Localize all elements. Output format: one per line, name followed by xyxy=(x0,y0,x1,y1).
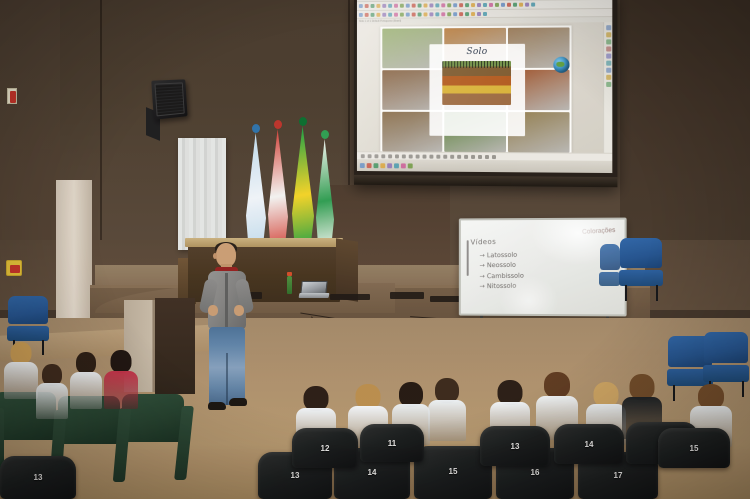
audience-head xyxy=(11,342,32,364)
chair-back xyxy=(8,296,48,324)
toolbar-icon[interactable] xyxy=(388,4,392,8)
toolbar-icon[interactable] xyxy=(401,163,406,168)
toolbar-icon[interactable] xyxy=(409,154,413,158)
toolbar-icon[interactable] xyxy=(416,154,420,158)
toolbar-icon[interactable] xyxy=(359,4,363,8)
soil-horizon-profile-icon xyxy=(443,61,512,105)
white-curtain xyxy=(178,138,226,250)
slide-canvas[interactable]: Solo xyxy=(380,25,571,154)
toolbar-icon[interactable] xyxy=(388,154,392,158)
back-wall-right xyxy=(620,0,750,260)
toolbar-icon[interactable] xyxy=(477,12,481,16)
toolbar-icon[interactable] xyxy=(435,3,439,7)
municipal-flag xyxy=(246,133,266,251)
presenter-ear xyxy=(213,253,217,259)
toolbar-icon[interactable] xyxy=(360,163,365,168)
brazil-flag xyxy=(292,126,314,251)
left-door-dark[interactable] xyxy=(155,298,195,394)
whiteboard-notes: Vídeos →Latossolo →Neossolo →Cambissolo … xyxy=(471,229,524,290)
whiteboard-item: →Latossolo xyxy=(479,250,523,259)
toolbar-icon[interactable] xyxy=(492,155,496,159)
audience-torso xyxy=(104,371,138,409)
table-row[interactable]: 15 xyxy=(658,428,730,468)
toolbar-icon[interactable] xyxy=(429,12,433,16)
toolbar-icon[interactable] xyxy=(394,4,398,8)
toolbar-icon[interactable] xyxy=(485,155,489,159)
student-left-4 xyxy=(104,350,138,408)
toolbar-icon[interactable] xyxy=(365,4,369,8)
toolbar-icon[interactable] xyxy=(471,3,475,7)
toolbar-icon[interactable] xyxy=(402,154,406,158)
toolbar-icon[interactable] xyxy=(374,154,378,158)
toolbar-icon[interactable] xyxy=(606,82,611,87)
seat-number: 13 xyxy=(511,442,520,451)
laptop-icon[interactable] xyxy=(299,281,329,299)
flag-finial-icon xyxy=(299,117,307,126)
arrow-icon: → xyxy=(479,282,485,290)
toolbar-icon[interactable] xyxy=(418,4,422,8)
toolbar-icon[interactable] xyxy=(388,12,392,16)
flag-cloth xyxy=(246,133,266,251)
presenter-hand-right xyxy=(234,305,244,316)
audience-torso xyxy=(428,400,466,441)
seat-number: 13 xyxy=(34,473,43,482)
toolbar-icon[interactable] xyxy=(423,154,427,158)
arrow-icon: → xyxy=(479,261,485,269)
toolbar-icon[interactable] xyxy=(359,12,363,16)
table-row[interactable]: 11 xyxy=(360,424,424,462)
presenter-hand-left xyxy=(208,305,218,316)
toolbar-icon[interactable] xyxy=(606,68,611,73)
toolbar-icon[interactable] xyxy=(382,4,386,8)
presenter-shirt-placket xyxy=(225,273,228,327)
toolbar-icon[interactable] xyxy=(424,12,428,16)
student-left-3 xyxy=(70,352,102,408)
toolbar-icon[interactable] xyxy=(371,4,375,8)
state-flag xyxy=(268,129,288,251)
toolbar-icon[interactable] xyxy=(606,61,611,66)
whiteboard-item-label: Cambissolo xyxy=(487,271,524,280)
toolbar-icon[interactable] xyxy=(459,12,463,16)
chair-back xyxy=(704,332,748,363)
globe-icon xyxy=(553,56,569,72)
toolbar-icon[interactable] xyxy=(453,12,457,16)
whiteboard-heading: Vídeos xyxy=(471,238,497,247)
seat-number: 15 xyxy=(449,467,458,476)
toolbar-icon[interactable] xyxy=(441,12,445,16)
presenter-shoe-right xyxy=(229,398,247,406)
toolbar-icon[interactable] xyxy=(412,12,416,16)
chair-seat xyxy=(7,326,49,341)
os-taskbar[interactable] xyxy=(357,159,612,173)
toolbar-icon[interactable] xyxy=(519,3,523,7)
toolbar-icon[interactable] xyxy=(477,3,481,7)
toolbar-icon[interactable] xyxy=(368,154,372,158)
whiteboard-item: →Cambissolo xyxy=(479,271,523,280)
toolbar-icon[interactable] xyxy=(435,12,439,16)
seat-number: 15 xyxy=(690,444,699,453)
arrow-icon: → xyxy=(479,251,485,259)
flag-cloth xyxy=(292,126,314,251)
chair-back xyxy=(600,244,620,270)
whiteboard-item-label: Nitossolo xyxy=(487,282,517,290)
seat-number: 13 xyxy=(291,471,300,480)
toolbar-icon[interactable] xyxy=(374,163,379,168)
audience-head xyxy=(111,350,132,373)
fire-extinguisher-sign-icon xyxy=(7,88,17,104)
toolbar-icon[interactable] xyxy=(606,46,611,51)
slide-center-card: Solo xyxy=(429,44,525,137)
projected-desktop: Slide 1 of 1 Default Portuguese (Brazil)… xyxy=(357,0,612,173)
toolbar-icon[interactable] xyxy=(418,12,422,16)
toolbar-icon[interactable] xyxy=(387,163,392,168)
toolbar-icon[interactable] xyxy=(471,12,475,16)
presenter-leg-seam xyxy=(226,353,228,405)
emergency-sign-icon xyxy=(6,260,22,276)
audience-torso xyxy=(4,362,38,399)
toolbar-icon[interactable] xyxy=(400,12,404,16)
slide-title: Solo xyxy=(466,47,487,57)
toolbar-icon[interactable] xyxy=(465,3,469,7)
audience-head xyxy=(544,372,570,398)
toolbar-icon[interactable] xyxy=(501,3,505,7)
flag-finial-icon xyxy=(321,130,329,139)
arrow-icon: → xyxy=(479,272,485,280)
table-row[interactable]: 13 xyxy=(0,456,76,499)
toolbar-icon[interactable] xyxy=(394,163,399,168)
toolbar-icon[interactable] xyxy=(483,3,487,7)
toolbar-icon[interactable] xyxy=(376,12,380,16)
wall-seam xyxy=(100,0,102,250)
presenter xyxy=(196,243,256,423)
toolbar-icon[interactable] xyxy=(495,3,499,7)
table-row[interactable]: 14 xyxy=(554,424,624,464)
toolbar-icon[interactable] xyxy=(489,3,493,7)
toolbar-icon[interactable] xyxy=(424,3,428,7)
toolbar-icon[interactable] xyxy=(507,3,511,7)
toolbar-icon[interactable] xyxy=(361,154,365,158)
app-statusline: Slide 1 of 1 Default Portuguese (Brazil) xyxy=(357,17,612,24)
auditorium-scene: Slide 1 of 1 Default Portuguese (Brazil)… xyxy=(0,0,750,499)
toolbar-icon[interactable] xyxy=(412,4,416,8)
toolbar-icon[interactable] xyxy=(400,4,404,8)
toolbar-icon[interactable] xyxy=(371,12,375,16)
toolbar-icon[interactable] xyxy=(395,154,399,158)
toolbar-icon[interactable] xyxy=(443,154,447,158)
toolbar-icon[interactable] xyxy=(459,3,463,7)
toolbar-icon[interactable] xyxy=(376,4,380,8)
seat-number: 17 xyxy=(614,471,623,480)
flag-cloth xyxy=(316,139,334,251)
toolbar-icon[interactable] xyxy=(471,154,475,158)
toolbar-icon[interactable] xyxy=(606,32,611,37)
pa-speaker-icon xyxy=(151,79,187,119)
seat-number: 11 xyxy=(388,439,396,448)
toolbar-icon[interactable] xyxy=(367,163,372,168)
flag-group xyxy=(246,126,332,251)
toolbar-icon[interactable] xyxy=(450,154,454,158)
toolbar-icon[interactable] xyxy=(408,163,413,168)
seat-number: 14 xyxy=(368,468,377,477)
toolbar-icon[interactable] xyxy=(606,75,611,80)
student-mid-4 xyxy=(428,378,466,440)
seat-number: 12 xyxy=(321,444,330,453)
audience-torso xyxy=(70,372,102,409)
app-sidebar[interactable] xyxy=(603,22,612,164)
toolbar-icon[interactable] xyxy=(429,3,433,7)
toolbar-icon[interactable] xyxy=(406,12,410,16)
toolbar-icon[interactable] xyxy=(606,25,611,30)
toolbar-icon[interactable] xyxy=(382,12,386,16)
toolbar-icon[interactable] xyxy=(441,3,445,7)
toolbar-icon[interactable] xyxy=(464,154,468,158)
projection-screen: Slide 1 of 1 Default Portuguese (Brazil)… xyxy=(354,0,617,187)
toolbar-icon[interactable] xyxy=(447,12,451,16)
toolbar-icon[interactable] xyxy=(406,4,410,8)
toolbar-icon[interactable] xyxy=(436,154,440,158)
toolbar-icon[interactable] xyxy=(365,12,369,16)
audience-head xyxy=(76,352,96,374)
speaker-grille xyxy=(154,82,184,116)
chair-back xyxy=(620,238,662,268)
student-left-1 xyxy=(4,342,38,398)
institution-flag xyxy=(316,139,334,251)
desk-equipment xyxy=(330,294,370,300)
toolbar-icon[interactable] xyxy=(478,154,482,158)
toolbar-icon[interactable] xyxy=(531,3,535,7)
desk-equipment xyxy=(390,292,424,299)
toolbar-icon[interactable] xyxy=(513,3,517,7)
toolbar-icon[interactable] xyxy=(453,3,457,7)
chair-seat xyxy=(703,365,749,382)
whiteboard-item: →Nitossolo xyxy=(479,282,523,291)
table-row[interactable]: 13 xyxy=(480,426,550,466)
whiteboard-item-label: Neossolo xyxy=(487,261,516,269)
whiteboard-bracket-mark xyxy=(467,240,469,276)
toolbar-icon[interactable] xyxy=(483,11,487,15)
toolbar-icon[interactable] xyxy=(380,163,385,168)
seat-number: 16 xyxy=(531,468,540,477)
whiteboard-right-note: Colorações xyxy=(582,227,616,236)
flag-finial-icon xyxy=(274,120,282,129)
whiteboard-item-label: Latossolo xyxy=(487,250,518,259)
chair-seat xyxy=(599,272,620,286)
toolbar-icon[interactable] xyxy=(394,12,398,16)
wall-corner-highlight xyxy=(56,180,92,320)
presenter-shoe-left xyxy=(208,402,226,410)
toolbar-icon[interactable] xyxy=(447,3,451,7)
podium-side-panel xyxy=(336,238,358,301)
blue-chair[interactable] xyxy=(620,238,662,300)
laptop-keyboard xyxy=(299,293,330,298)
toolbar-icon[interactable] xyxy=(606,54,611,59)
flag-finial-icon xyxy=(252,124,260,133)
toolbar-icon[interactable] xyxy=(381,154,385,158)
table-row[interactable]: 12 xyxy=(292,428,358,468)
toolbar-icon[interactable] xyxy=(465,12,469,16)
audience-torso xyxy=(36,383,68,419)
seat-number: 14 xyxy=(585,440,594,449)
whiteboard-item: →Neossolo xyxy=(479,261,523,270)
toolbar-icon[interactable] xyxy=(457,154,461,158)
chair-seat xyxy=(619,270,663,286)
toolbar-icon[interactable] xyxy=(606,39,611,44)
student-left-2 xyxy=(36,364,68,418)
blue-chair[interactable] xyxy=(600,244,620,298)
flag-cloth xyxy=(268,129,288,251)
toolbar-icon[interactable] xyxy=(429,154,433,158)
toolbar-icon[interactable] xyxy=(525,3,529,7)
water-bottle-icon xyxy=(287,276,292,294)
